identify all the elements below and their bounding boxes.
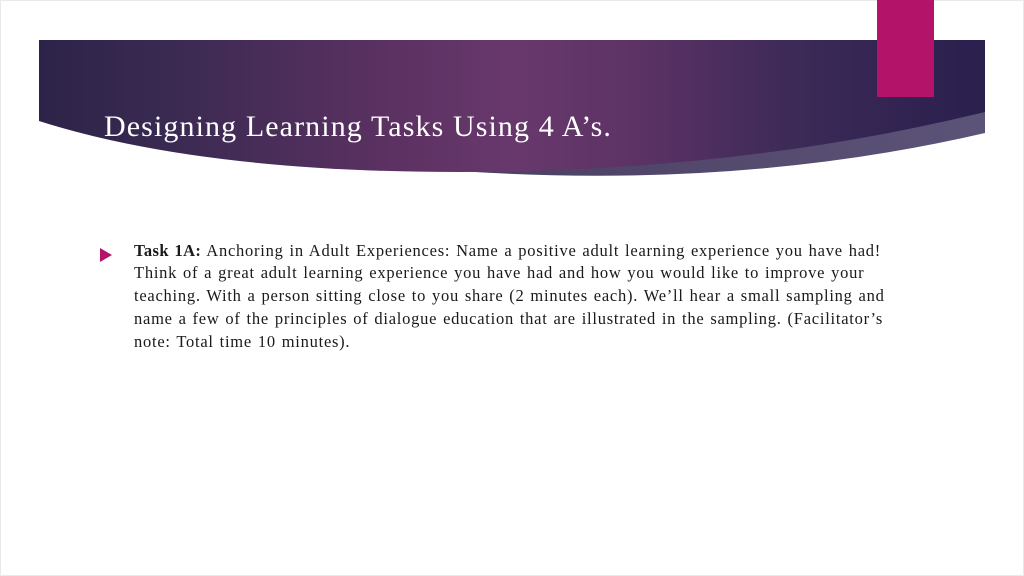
bullet-body-text: Anchoring in Adult Experiences: Name a p… xyxy=(134,241,885,351)
title-banner: Designing Learning Tasks Using 4 A’s. xyxy=(39,0,985,185)
bullet-lead-label: Task 1A: xyxy=(134,241,201,260)
slide-canvas: Designing Learning Tasks Using 4 A’s. Ta… xyxy=(0,0,1024,576)
body-content: Task 1A: Anchoring in Adult Experiences:… xyxy=(96,223,896,370)
banner-shape-graphic xyxy=(39,0,985,185)
magenta-accent-rectangle xyxy=(877,0,934,97)
canvas-edge-left xyxy=(0,0,1,576)
bullet-paragraph: Task 1A: Anchoring in Adult Experiences:… xyxy=(134,240,896,354)
slide-title: Designing Learning Tasks Using 4 A’s. xyxy=(104,108,924,146)
list-item: Task 1A: Anchoring in Adult Experiences:… xyxy=(96,240,896,354)
triangle-bullet-icon xyxy=(100,248,112,262)
